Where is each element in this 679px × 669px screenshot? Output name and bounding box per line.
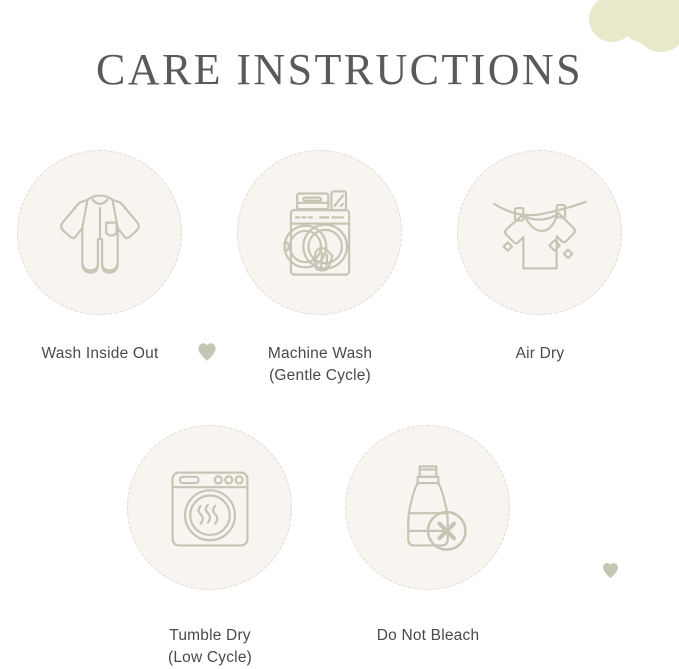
no-bleach-bottle-icon bbox=[376, 456, 480, 560]
blob-circle bbox=[613, 0, 679, 44]
care-badge-machine-wash bbox=[237, 150, 402, 315]
page-title: CARE INSTRUCTIONS bbox=[0, 44, 679, 95]
badge-circle bbox=[457, 150, 622, 315]
heart-icon-shape bbox=[196, 341, 218, 363]
badge-label-air-dry: Air Dry bbox=[440, 343, 640, 365]
clothesline-shirt-icon bbox=[488, 181, 592, 285]
heart-icon bbox=[601, 561, 620, 580]
blob-circle bbox=[589, 0, 635, 42]
tumble-dryer-icon bbox=[158, 456, 262, 560]
badge-circle bbox=[17, 150, 182, 315]
label-line-1: Machine Wash bbox=[268, 345, 372, 362]
care-badge-wash-inside-out bbox=[17, 150, 182, 315]
label-line-1: Wash Inside Out bbox=[41, 345, 158, 362]
heart-icon-shape bbox=[601, 561, 620, 580]
care-badge-tumble-dry bbox=[127, 425, 292, 590]
blob-circle bbox=[639, 0, 679, 26]
label-line-1: Air Dry bbox=[516, 345, 565, 362]
badge-circle bbox=[127, 425, 292, 590]
badge-label-wash-inside-out: Wash Inside Out bbox=[0, 343, 200, 365]
badge-label-machine-wash: Machine Wash (Gentle Cycle) bbox=[220, 343, 420, 387]
badge-circle bbox=[345, 425, 510, 590]
washing-machine-icon bbox=[268, 181, 372, 285]
label-line-2: (Gentle Cycle) bbox=[220, 365, 420, 387]
badge-label-tumble-dry: Tumble Dry (Low Cycle) bbox=[110, 625, 310, 669]
badge-circle bbox=[237, 150, 402, 315]
badge-label-do-not-bleach: Do Not Bleach bbox=[328, 625, 528, 647]
heart-icon bbox=[196, 341, 218, 363]
label-line-2: (Low Cycle) bbox=[110, 647, 310, 669]
label-line-1: Tumble Dry bbox=[169, 627, 251, 644]
label-line-1: Do Not Bleach bbox=[377, 627, 480, 644]
baby-onesie-icon bbox=[48, 181, 152, 285]
care-badge-do-not-bleach bbox=[345, 425, 510, 590]
care-badge-air-dry bbox=[457, 150, 622, 315]
